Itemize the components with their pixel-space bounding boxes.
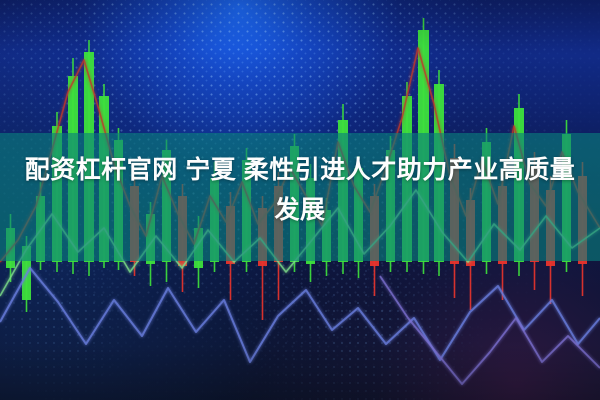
page-title: 配资杠杆官网 宁夏 柔性引进人才助力产业高质量发展 (0, 150, 600, 230)
blue-zigzag-line-lower (0, 268, 600, 362)
cover-image: 配资杠杆官网 宁夏 柔性引进人才助力产业高质量发展 (0, 0, 600, 400)
